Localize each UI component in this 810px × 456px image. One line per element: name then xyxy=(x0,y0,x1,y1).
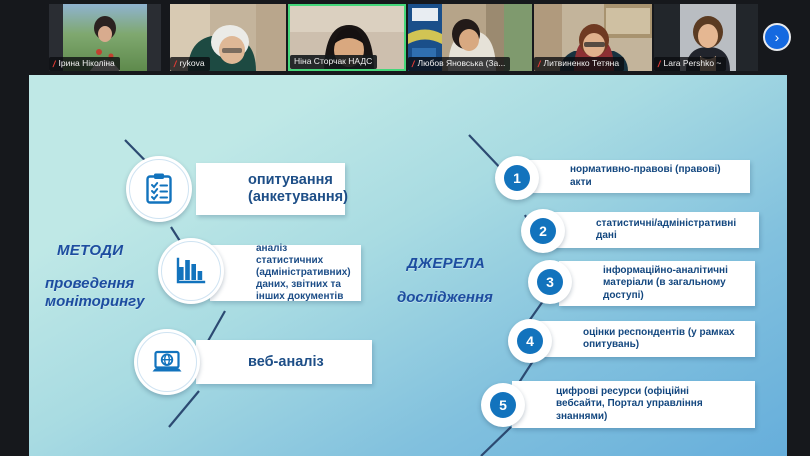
participant-tile[interactable]: / Любов Яновська (За... xyxy=(408,4,532,71)
source-node-4[interactable]: 4 xyxy=(508,319,552,363)
source-card-4-line1: оцінки респондентів (у рамках xyxy=(583,327,747,340)
source-card-1: нормативно-правові (правові) акти xyxy=(526,160,750,193)
participant-name-badge: Ніна Сторчак НАДС xyxy=(290,55,377,69)
method-node-web-analysis[interactable] xyxy=(134,329,200,395)
participant-tile[interactable]: / Lara Pershko ~ xyxy=(654,4,758,71)
participant-name-badge: / Lara Pershko ~ xyxy=(654,57,726,71)
source-card-3-line2: матеріали (в загальному xyxy=(603,277,747,290)
participant-name-badge: / Ірина Ніколіна xyxy=(49,57,120,71)
method-card-statistics-line4: інших документів xyxy=(256,291,353,303)
source-card-5-line1: цифрові ресурси (офіційні xyxy=(556,386,747,399)
method-card-web-analysis: веб-аналіз xyxy=(196,340,372,384)
method-node-survey[interactable] xyxy=(126,156,192,222)
source-number-1: 1 xyxy=(504,165,530,191)
participant-name-badge: / rykova xyxy=(170,57,210,71)
sources-heading: ДЖЕРЕЛА xyxy=(407,255,485,272)
source-node-2[interactable]: 2 xyxy=(521,209,565,253)
next-page-button[interactable]: › xyxy=(763,23,791,51)
method-card-survey: опитування (анкетування) xyxy=(196,163,345,215)
source-card-5-line2: вебсайти, Портал управління xyxy=(556,398,747,411)
source-card-2-line2: дані xyxy=(596,230,751,243)
participant-tile[interactable]: / rykova xyxy=(170,4,286,71)
participant-tile-active[interactable]: Ніна Сторчак НАДС xyxy=(288,4,406,71)
participant-name-badge: / Литвиненко Тетяна xyxy=(534,57,624,71)
source-number-3: 3 xyxy=(537,269,563,295)
method-card-survey-line2: (анкетування) xyxy=(248,189,335,206)
methods-heading: МЕТОДИ xyxy=(57,242,123,259)
source-card-3-line3: доступі) xyxy=(603,290,747,303)
source-card-4: оцінки респондентів (у рамках опитувань) xyxy=(539,321,755,357)
source-node-3[interactable]: 3 xyxy=(528,260,572,304)
methods-subheading-line1: проведення xyxy=(45,275,145,293)
source-card-3: інформаційно-аналітичні матеріали (в заг… xyxy=(559,261,755,306)
mic-muted-icon: / xyxy=(537,59,542,69)
participant-tile[interactable]: / Ірина Ніколіна xyxy=(49,4,161,71)
methods-subheading: проведення моніторингу xyxy=(45,275,145,311)
participant-tile[interactable]: / Литвиненко Тетяна xyxy=(534,4,652,71)
source-node-1[interactable]: 1 xyxy=(495,156,539,200)
method-card-survey-line1: опитування xyxy=(248,172,335,189)
source-number-5: 5 xyxy=(490,392,516,418)
participant-name: Литвиненко Тетяна xyxy=(544,58,620,69)
participant-name: rykova xyxy=(180,58,205,69)
mic-muted-icon: / xyxy=(173,59,178,69)
methods-subheading-line2: моніторингу xyxy=(45,293,145,311)
zoom-meeting-screen: / Ірина Ніколіна / rykova xyxy=(0,0,810,456)
source-card-4-line2: опитувань) xyxy=(583,339,747,352)
source-card-2: статистичні/адміністративні дані xyxy=(552,212,759,248)
source-number-2: 2 xyxy=(530,218,556,244)
method-card-statistics: аналіз статистичних (адміністративних) д… xyxy=(210,245,361,301)
mic-muted-icon: / xyxy=(411,59,416,69)
participant-name: Ніна Сторчак НАДС xyxy=(294,56,372,67)
chevron-right-icon: › xyxy=(775,30,780,44)
method-card-statistics-line1: аналіз статистичних xyxy=(256,243,353,267)
source-card-3-line1: інформаційно-аналітичні xyxy=(603,265,747,278)
source-card-5: цифрові ресурси (офіційні вебсайти, Порт… xyxy=(512,381,755,428)
method-card-statistics-line2: (адміністративних) xyxy=(256,267,353,279)
mic-muted-icon: / xyxy=(657,59,662,69)
participant-filmstrip: / Ірина Ніколіна / rykova xyxy=(0,0,810,75)
shared-slide: МЕТОДИ проведення моніторингу опитування… xyxy=(29,75,787,456)
source-card-5-line3: знаннями) xyxy=(556,411,747,424)
method-node-statistics[interactable] xyxy=(158,238,224,304)
source-card-2-line1: статистичні/адміністративні xyxy=(596,218,751,231)
method-card-statistics-line3: даних, звітних та xyxy=(256,279,353,291)
method-card-web-analysis-text: веб-аналіз xyxy=(248,354,362,371)
participant-name: Любов Яновська (За... xyxy=(418,58,506,69)
source-node-5[interactable]: 5 xyxy=(481,383,525,427)
source-card-1-text: нормативно-правові (правові) акти xyxy=(570,164,742,189)
mic-muted-icon: / xyxy=(52,59,57,69)
participant-name-badge: / Любов Яновська (За... xyxy=(408,57,510,71)
source-number-4: 4 xyxy=(517,328,543,354)
sources-subheading: дослідження xyxy=(397,289,493,307)
participant-name: Lara Pershko ~ xyxy=(664,58,722,69)
participant-name: Ірина Ніколіна xyxy=(59,58,115,69)
